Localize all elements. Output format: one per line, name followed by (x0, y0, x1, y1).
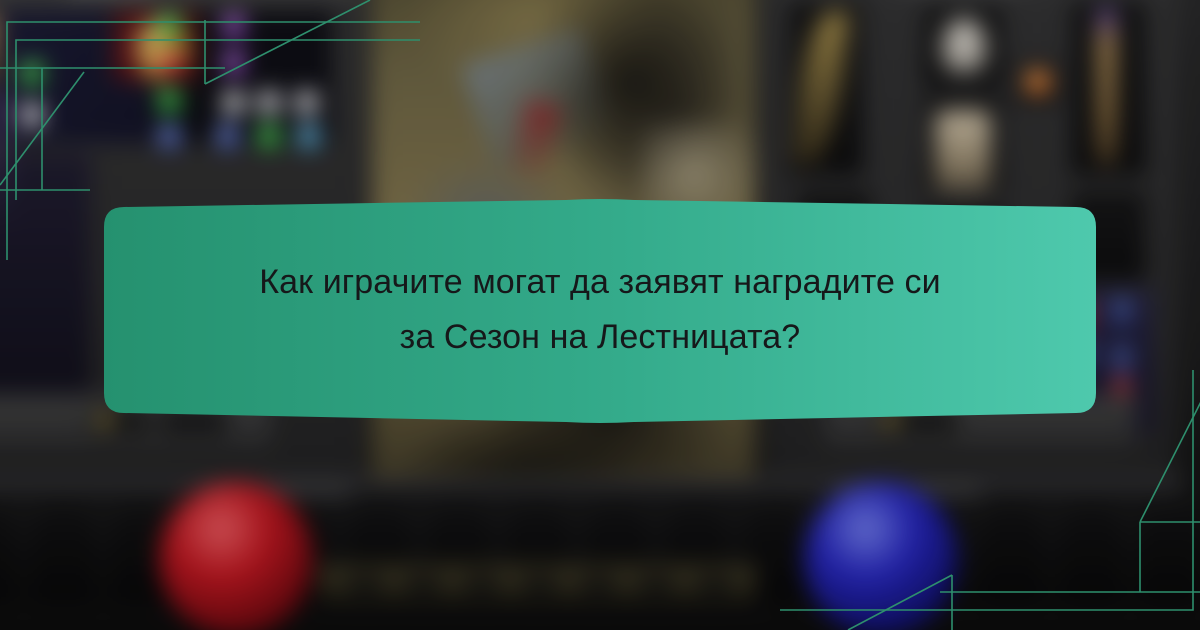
equipped-staff-item (1097, 8, 1116, 164)
inventory-gem-blue (159, 125, 180, 148)
hud-arch (1062, 501, 1120, 601)
inventory-gem-purple (224, 52, 245, 75)
charm-item-blue (1114, 347, 1130, 374)
inventory-gem-green (159, 14, 180, 37)
equipped-ring-item (1024, 69, 1051, 96)
inventory-gem-blue (217, 125, 238, 148)
inventory-gem-green (22, 62, 43, 85)
hud-arch (983, 501, 1041, 601)
mana-orb (804, 482, 958, 630)
hud-arch (1141, 501, 1199, 601)
inventory-gem-purple (224, 14, 245, 37)
inventory-gem-white (224, 91, 245, 114)
health-orb (159, 482, 313, 630)
hud-arch (0, 501, 13, 601)
hud-skill-slot (404, 572, 441, 599)
hud-arch (34, 501, 92, 601)
inventory-gem-cyan (298, 125, 319, 148)
hud-skill-slot (696, 572, 733, 599)
inventory-gem-white (22, 104, 43, 127)
inventory-gem-white (259, 91, 280, 114)
hud-skill-slot (346, 572, 383, 599)
inventory-body-silhouette (0, 91, 13, 226)
equipped-helm-item (941, 19, 987, 73)
inventory-gem-green (159, 89, 180, 112)
hud-skill-slot (637, 572, 674, 599)
banner-title-line-1: Как играчите могат да заявят наградите с… (259, 255, 940, 310)
inventory-gem-red (159, 52, 180, 75)
inventory-lower-stash (0, 154, 90, 393)
hud-skill-slot (463, 572, 500, 599)
equipped-armor-item (935, 110, 991, 191)
hud-top-rail (0, 478, 1182, 488)
banner-title-text: Как играчите могат да заявят наградите с… (96, 190, 1104, 430)
banner-title-line-2: за Сезон на Лестницата? (400, 310, 801, 365)
title-banner: Как играчите могат да заявят наградите с… (96, 190, 1104, 430)
charm-item-blue (1114, 299, 1130, 326)
hud-skill-slot (579, 572, 616, 599)
inventory-gem-green (259, 125, 280, 148)
hud-skill-slot (521, 572, 558, 599)
share-card-canvas: Как играчите могат да заявят наградите с… (0, 0, 1200, 630)
inventory-gem-white (296, 91, 317, 114)
